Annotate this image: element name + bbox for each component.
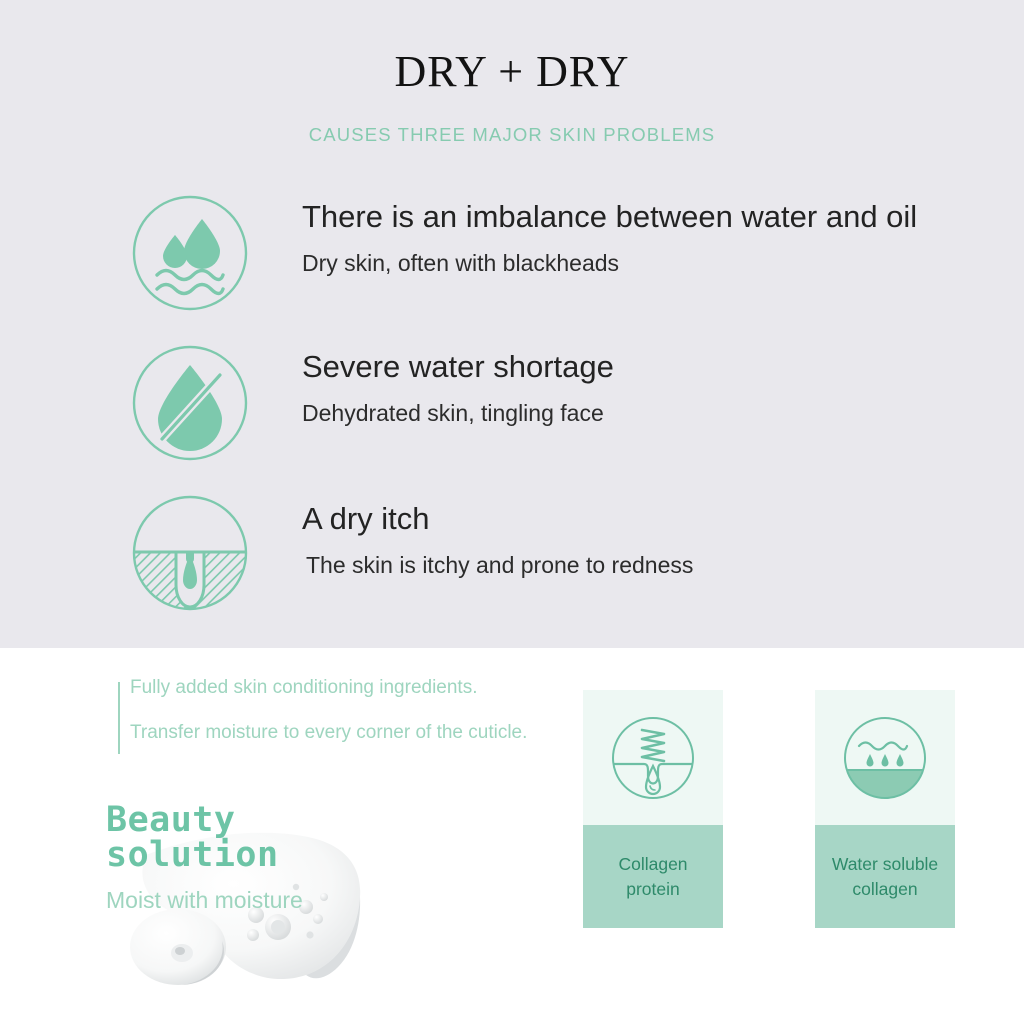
ingredient-label-line2: collagen [852, 877, 917, 902]
problem-item: A dry itch The skin is itchy and prone t… [0, 493, 1024, 623]
page-title: DRY + DRY [0, 46, 1024, 97]
ingredient-label-line1: Collagen [618, 852, 687, 877]
brand-block: Beauty solution Moist with moisture [106, 803, 406, 912]
ingredient-label: Collagen protein [583, 825, 723, 928]
promo-accent-bar [118, 682, 120, 754]
ingredient-label-line2: protein [626, 877, 680, 902]
problem-heading: There is an imbalance between water and … [302, 199, 1024, 236]
ingredient-label-line1: Water soluble [832, 852, 938, 877]
problems-section: DRY + DRY CAUSES THREE MAJOR SKIN PROBLE… [0, 0, 1024, 648]
collagen-spring-pore-icon [583, 690, 723, 825]
problem-item: Severe water shortage Dehydrated skin, t… [0, 343, 1024, 473]
ingredient-label: Water soluble collagen [815, 825, 955, 928]
problem-text-block: A dry itch The skin is itchy and prone t… [302, 501, 1024, 579]
promo-line: Fully added skin conditioning ingredient… [130, 678, 600, 697]
brand-subtitle: Moist with moisture [106, 889, 406, 912]
water-oil-balance-icon [130, 193, 250, 313]
problem-heading: A dry itch [302, 501, 1024, 538]
problem-text-block: Severe water shortage Dehydrated skin, t… [302, 349, 1024, 427]
no-water-droplet-icon [130, 343, 250, 463]
ingredient-card[interactable]: Collagen protein [583, 690, 723, 928]
water-soluble-waves-icon [815, 690, 955, 825]
problem-text-block: There is an imbalance between water and … [302, 199, 1024, 277]
problem-description: Dry skin, often with blackheads [302, 250, 1024, 278]
problem-heading: Severe water shortage [302, 349, 1024, 386]
brand-title: Beauty solution [106, 803, 406, 873]
promo-text-block: Fully added skin conditioning ingredient… [130, 678, 600, 768]
problem-description: The skin is itchy and prone to redness [306, 552, 1024, 580]
problem-description: Dehydrated skin, tingling face [302, 400, 1024, 428]
infographic-page: DRY + DRY CAUSES THREE MAJOR SKIN PROBLE… [0, 0, 1024, 1024]
problem-item: There is an imbalance between water and … [0, 193, 1024, 323]
dry-pore-itch-icon [130, 493, 250, 613]
page-subtitle: CAUSES THREE MAJOR SKIN PROBLEMS [0, 124, 1024, 146]
solution-section: Fully added skin conditioning ingredient… [0, 648, 1024, 1024]
ingredient-card[interactable]: Water soluble collagen [815, 690, 955, 928]
promo-line: Transfer moisture to every corner of the… [130, 723, 600, 742]
